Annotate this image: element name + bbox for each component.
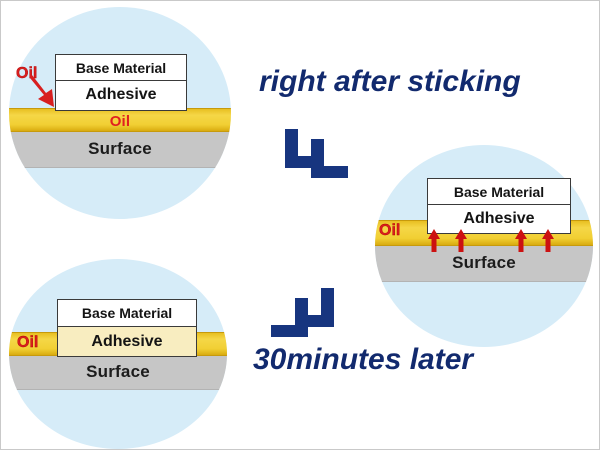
oil-band-text: Oil	[110, 113, 131, 130]
panel-right-after-sticking: Surface Base Material Adhesive Oil	[375, 145, 593, 347]
surface-label: Surface	[9, 363, 227, 380]
surface-label: Surface	[9, 140, 231, 157]
oil-band-label: Oil	[9, 114, 231, 129]
diagram-canvas: Oil Surface Base Material Adhesive Oil S…	[0, 0, 600, 450]
base-material-layer: Base Material	[56, 55, 186, 81]
caption-right-after-sticking: right after sticking	[259, 67, 521, 97]
base-material-layer: Base Material	[58, 300, 196, 327]
adhesive-layer: Adhesive	[58, 327, 196, 356]
panel-before: Oil Surface Base Material Adhesive Oil	[9, 7, 231, 219]
material-stack: Base Material Adhesive	[55, 54, 187, 111]
surface-label: Surface	[375, 254, 593, 271]
chevron-down-left-icon	[271, 288, 334, 337]
oil-callout-label: Oil	[379, 223, 400, 239]
caption-30-minutes-later: 30minutes later	[253, 345, 473, 375]
material-stack: Base Material Adhesive	[427, 178, 571, 234]
base-material-layer: Base Material	[428, 179, 570, 205]
panel-30-minutes-later: Surface Base Material Adhesive Oil	[9, 259, 227, 449]
oil-callout-label: Oil	[16, 66, 37, 82]
adhesive-layer: Adhesive	[56, 81, 186, 109]
material-stack: Base Material Adhesive	[57, 299, 197, 357]
adhesive-layer: Adhesive	[428, 205, 570, 233]
oil-callout-label: Oil	[17, 335, 38, 351]
chevron-down-right-icon	[285, 129, 348, 178]
panel-clip	[375, 145, 593, 347]
